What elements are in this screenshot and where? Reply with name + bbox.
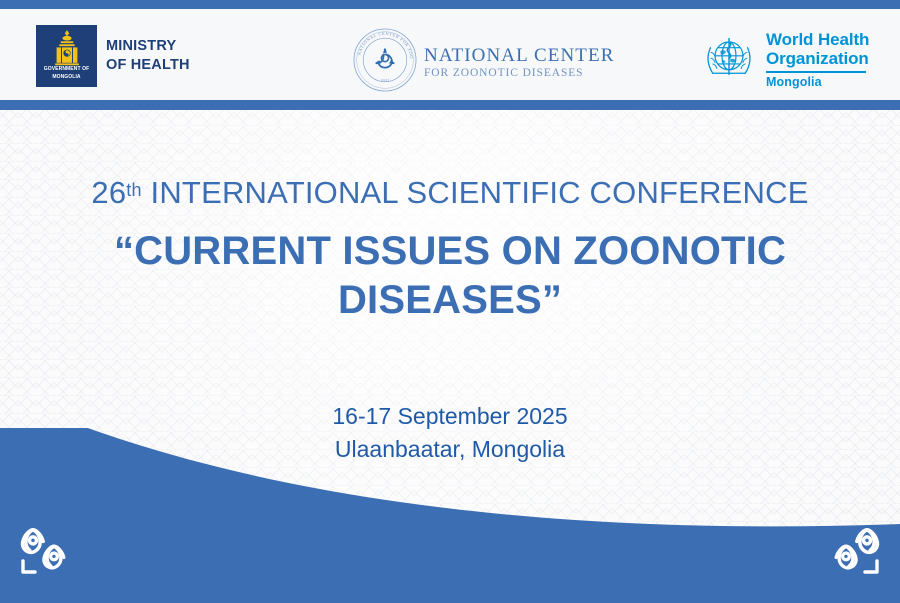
ministry-emblem-label-line2: MONGOLIA xyxy=(36,74,97,80)
soyombo-symbol-icon xyxy=(52,29,82,67)
conference-details: 16-17 September 2025 Ulaanbaatar, Mongol… xyxy=(0,400,900,465)
ministry-name-line2: OF HEALTH xyxy=(106,56,190,75)
conference-edition-text: INTERNATIONAL SCIENTIFIC CONFERENCE xyxy=(142,175,809,210)
who-name-line1: World Health xyxy=(766,30,869,49)
top-accent-bar xyxy=(0,0,900,9)
page-title: “CURRENT ISSUES ON ZOONOTIC DISEASES” xyxy=(0,227,900,325)
who-name-line2: Organization xyxy=(766,49,869,68)
slide-body: 26th INTERNATIONAL SCIENTIFIC CONFERENCE… xyxy=(0,110,900,510)
ministry-emblem-label-line1: GOVERNMENT OF xyxy=(36,66,97,72)
mongolia-soyombo-icon: GOVERNMENT OF MONGOLIA xyxy=(36,25,97,87)
who-country-label: Mongolia xyxy=(766,75,869,89)
national-center-name-line2: FOR ZOONOTIC DISEASES xyxy=(424,66,614,81)
ministry-of-health-logo: GOVERNMENT OF MONGOLIA MINISTRY OF HEALT… xyxy=(36,25,190,87)
conference-title-slide: GOVERNMENT OF MONGOLIA MINISTRY OF HEALT… xyxy=(0,0,900,603)
national-center-name-line1: NATIONAL CENTER xyxy=(424,46,614,66)
conference-location: Ulaanbaatar, Mongolia xyxy=(0,433,900,466)
who-divider xyxy=(766,71,866,73)
logo-row: GOVERNMENT OF MONGOLIA MINISTRY OF HEALT… xyxy=(0,9,900,100)
conference-dates: 16-17 September 2025 xyxy=(0,400,900,433)
national-center-name: NATIONAL CENTER FOR ZOONOTIC DISEASES xyxy=(424,40,614,81)
ministry-name-line1: MINISTRY xyxy=(106,37,190,56)
header-accent-bar xyxy=(0,100,900,110)
ministry-of-health-name: MINISTRY OF HEALTH xyxy=(106,37,190,76)
mongolian-ulzii-knot-icon xyxy=(816,524,886,582)
mongolian-ulzii-knot-icon xyxy=(14,524,84,582)
who-emblem-icon xyxy=(700,28,758,86)
conference-number: 26 xyxy=(91,175,126,210)
who-wordmark: World Health Organization Mongolia xyxy=(766,28,869,89)
who-logo: World Health Organization Mongolia xyxy=(700,28,869,89)
biohazard-seal-icon: NATIONAL CENTER FOR ZOONOTIC DISEASES 19… xyxy=(352,27,418,93)
conference-ordinal-suffix: th xyxy=(126,180,141,200)
national-center-logo: NATIONAL CENTER FOR ZOONOTIC DISEASES 19… xyxy=(352,27,614,93)
conference-edition-line: 26th INTERNATIONAL SCIENTIFIC CONFERENCE xyxy=(0,175,900,211)
svg-text:1931: 1931 xyxy=(380,78,390,83)
